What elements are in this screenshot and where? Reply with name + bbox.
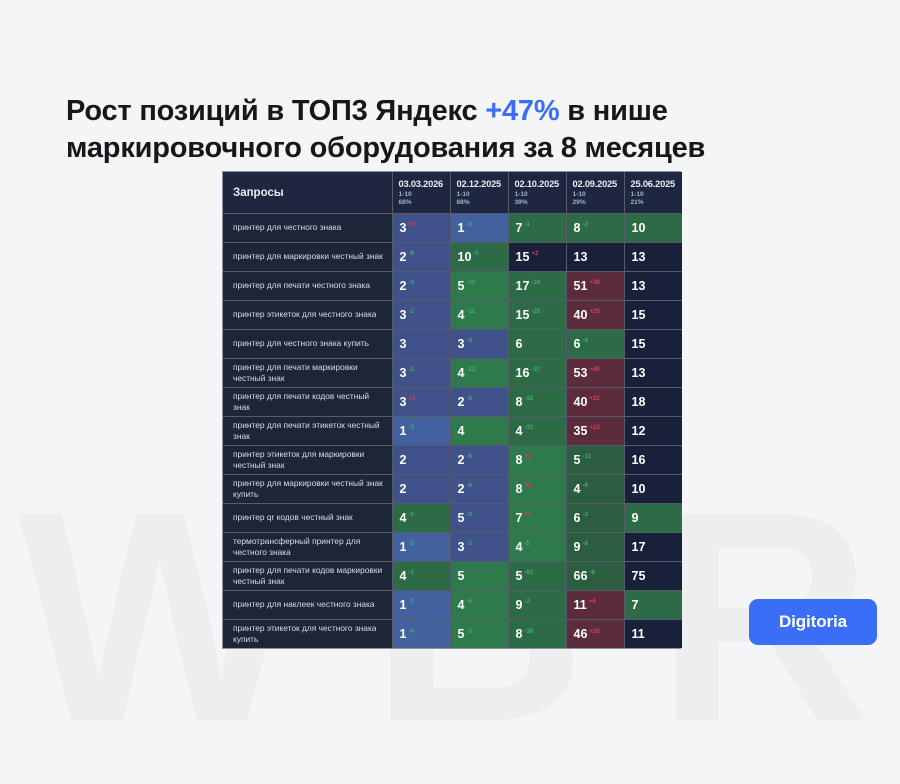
position-delta: -2 [466, 511, 471, 518]
table-row: принтер qr кодов честный знак4-15-27+16-… [223, 503, 682, 532]
position-delta: +4 [524, 482, 531, 489]
position-value: 75 [632, 569, 646, 583]
row-query-label: принтер qr кодов честный знак [223, 503, 392, 532]
column-header-date-5: 25.06.20251-10 21% [624, 172, 682, 213]
position-cell: 53+40 [566, 358, 624, 387]
row-query-label: принтер для печати честного знака [223, 271, 392, 300]
position-delta: -3 [466, 337, 471, 344]
position-cell: 8-2 [566, 213, 624, 242]
position-value: 8 [516, 453, 523, 467]
position-value: 9 [574, 540, 581, 554]
position-cell: 46+35 [566, 619, 624, 648]
rankings-table: Запросы 03.03.20261-10 68%02.12.20251-10… [223, 172, 682, 648]
position-delta: -1 [408, 308, 413, 315]
position-value: 5 [458, 511, 465, 525]
position-value: 40 [574, 395, 588, 409]
position-cell: 1-2 [392, 532, 450, 561]
row-query-label: принтер для честного знака [223, 213, 392, 242]
row-query-label: принтер этикеток для честного знака [223, 300, 392, 329]
position-delta: +40 [589, 366, 599, 373]
position-cell: 5-12 [450, 271, 508, 300]
row-query-label: принтер для печати этикеток честный знак [223, 416, 392, 445]
position-cell: 2 [392, 445, 450, 474]
position-cell: 3-1 [392, 300, 450, 329]
position-cell: 15-25 [508, 300, 566, 329]
position-value: 3 [400, 337, 407, 351]
column-date: 02.10.2025 [515, 179, 560, 189]
title-part-2: в нише [559, 95, 667, 127]
table-row: принтер для наклеек честного знака1-34-5… [223, 590, 682, 619]
position-delta: -1 [408, 511, 413, 518]
position-value: 12 [632, 424, 646, 438]
position-value: 5 [574, 453, 581, 467]
table-row: принтер этикеток для честного знака3-14-… [223, 300, 682, 329]
position-delta: -1 [408, 569, 413, 576]
title-part-1: Рост позиций в ТОП3 Яндекс [66, 95, 485, 127]
row-query-label: принтер для наклеек честного знака [223, 590, 392, 619]
position-cell: 4-6 [566, 474, 624, 503]
row-query-label: принтер для печати кодов маркировки чест… [223, 561, 392, 590]
position-value: 5 [516, 569, 523, 583]
position-delta: -3 [466, 628, 471, 635]
position-value: 66 [574, 569, 588, 583]
position-value: 5 [458, 627, 465, 641]
position-value: 2 [458, 482, 465, 496]
row-query-label: принтер для печати маркировки честный зн… [223, 358, 392, 387]
title-line-2: маркировочного оборудования за 8 месяцев [66, 132, 705, 164]
position-cell: 4-1 [392, 561, 450, 590]
position-delta: -1 [524, 221, 529, 228]
position-delta: +22 [589, 395, 599, 402]
position-value: 1 [400, 540, 407, 554]
rankings-table-container: Запросы 03.03.20261-10 68%02.12.20251-10… [222, 171, 681, 649]
position-value: 2 [458, 395, 465, 409]
position-cell: 4-31 [508, 416, 566, 445]
column-header-date-4: 02.09.20251-10 29% [566, 172, 624, 213]
position-value: 16 [632, 453, 646, 467]
position-delta: -3 [582, 511, 587, 518]
position-delta: +35 [589, 628, 599, 635]
position-delta: +3 [524, 453, 531, 460]
position-cell: 1-3 [392, 590, 450, 619]
position-value: 35 [574, 424, 588, 438]
position-cell: 2-6 [450, 445, 508, 474]
position-value: 4 [516, 424, 523, 438]
table-head: Запросы 03.03.20261-10 68%02.12.20251-10… [223, 172, 682, 213]
position-cell: 8+4 [508, 474, 566, 503]
position-delta: +38 [589, 279, 599, 286]
position-cell: 16 [624, 445, 682, 474]
position-delta: -2 [408, 540, 413, 547]
table-body: принтер для честного знака3+21-67-18-210… [223, 213, 682, 648]
position-delta: +25 [589, 308, 599, 315]
position-delta: -3 [408, 279, 413, 286]
position-delta: -61 [524, 569, 533, 576]
position-delta: -2 [524, 598, 529, 605]
position-value: 10 [632, 221, 646, 235]
position-value: 11 [574, 598, 587, 612]
position-value: 4 [400, 569, 407, 583]
position-value: 3 [458, 337, 465, 351]
position-value: 2 [400, 453, 407, 467]
position-cell: 3+2 [392, 213, 450, 242]
position-cell: 13 [624, 271, 682, 300]
position-cell: 10 [624, 474, 682, 503]
position-cell: 35+23 [566, 416, 624, 445]
position-value: 3 [458, 540, 465, 554]
position-value: 11 [632, 627, 645, 641]
position-cell: 4-12 [450, 358, 508, 387]
column-range-pct: 1-10 39% [515, 191, 560, 207]
position-cell: 4-5 [450, 590, 508, 619]
position-value: 10 [458, 250, 472, 264]
position-cell: 2-8 [392, 242, 450, 271]
row-query-label: принтер для маркировки честный знак [223, 242, 392, 271]
position-delta: -2 [582, 221, 587, 228]
position-value: 3 [400, 366, 407, 380]
position-cell: 5-11 [566, 445, 624, 474]
table-row: принтер для честного знака3+21-67-18-210 [223, 213, 682, 242]
position-value: 5 [458, 279, 465, 293]
position-value: 15 [632, 308, 646, 322]
position-value: 17 [632, 540, 646, 554]
position-cell: 2 [392, 474, 450, 503]
position-cell: 40+25 [566, 300, 624, 329]
position-cell: 10 [624, 213, 682, 242]
position-cell: 6 [508, 329, 566, 358]
position-cell: 3-1 [450, 532, 508, 561]
position-value: 8 [516, 627, 523, 641]
column-date: 02.09.2025 [573, 179, 618, 189]
position-delta: -1 [408, 366, 413, 373]
position-value: 1 [400, 598, 407, 612]
page-title: Рост позиций в ТОП3 Яндекс +47% в нишема… [66, 93, 826, 167]
column-date: 03.03.2026 [399, 179, 444, 189]
position-delta: +1 [408, 395, 415, 402]
position-delta: -12 [466, 279, 475, 286]
position-cell: 11+4 [566, 590, 624, 619]
position-cell: 13 [566, 242, 624, 271]
position-cell: 9-8 [566, 532, 624, 561]
position-value: 8 [574, 221, 581, 235]
position-cell: 4-1 [392, 503, 450, 532]
position-cell: 8-32 [508, 387, 566, 416]
table-row: термотрансферный принтер для честного зн… [223, 532, 682, 561]
position-value: 3 [400, 308, 407, 322]
position-delta: -3 [408, 598, 413, 605]
position-delta: -5 [466, 598, 471, 605]
position-value: 4 [574, 482, 581, 496]
position-delta: -38 [524, 628, 533, 635]
position-cell: 3-1 [392, 358, 450, 387]
position-delta: -6 [466, 482, 471, 489]
position-value: 1 [400, 424, 407, 438]
position-value: 2 [400, 250, 407, 264]
position-delta: -31 [524, 424, 533, 431]
position-value: 15 [516, 250, 530, 264]
position-delta: -5 [473, 250, 478, 257]
position-cell: 5 [450, 561, 508, 590]
position-cell: 8-38 [508, 619, 566, 648]
position-value: 46 [574, 627, 588, 641]
table-row: принтер для печати маркировки честный зн… [223, 358, 682, 387]
row-query-label: принтер для печати кодов честный знак [223, 387, 392, 416]
position-delta: -11 [582, 453, 590, 460]
column-header-date-1: 03.03.20261-10 68% [392, 172, 450, 213]
position-delta: +2 [531, 250, 538, 257]
position-value: 7 [516, 511, 523, 525]
position-delta: +1 [524, 511, 531, 518]
column-range-pct: 1-10 29% [573, 191, 618, 207]
column-date: 25.06.2025 [631, 179, 677, 189]
position-value: 9 [632, 511, 639, 525]
position-cell: 1-3 [392, 416, 450, 445]
table-row: принтер для печати честного знака2-35-12… [223, 271, 682, 300]
table-header-row: Запросы 03.03.20261-10 68%02.12.20251-10… [223, 172, 682, 213]
position-value: 7 [516, 221, 523, 235]
position-cell: 6-9 [566, 329, 624, 358]
position-cell: 9 [624, 503, 682, 532]
position-value: 13 [632, 366, 646, 380]
position-cell: 12 [624, 416, 682, 445]
position-cell: 5-61 [508, 561, 566, 590]
position-cell: 1-6 [450, 213, 508, 242]
position-delta: -6 [466, 453, 471, 460]
position-value: 17 [516, 279, 530, 293]
position-delta: -6 [466, 221, 471, 228]
position-value: 13 [574, 250, 588, 264]
position-delta: -9 [589, 569, 594, 576]
position-cell: 2-6 [450, 474, 508, 503]
position-value: 4 [458, 424, 465, 438]
position-cell: 11 [624, 619, 682, 648]
position-cell: 51+38 [566, 271, 624, 300]
position-value: 10 [632, 482, 646, 496]
position-cell: 1-4 [392, 619, 450, 648]
position-value: 6 [574, 337, 581, 351]
position-cell: 7-1 [508, 213, 566, 242]
position-value: 4 [458, 598, 465, 612]
position-value: 3 [400, 395, 407, 409]
column-header-queries: Запросы [223, 172, 392, 213]
position-cell: 2-3 [392, 271, 450, 300]
position-cell: 5-2 [450, 503, 508, 532]
position-value: 2 [458, 453, 465, 467]
position-value: 53 [574, 366, 588, 380]
position-cell: 75 [624, 561, 682, 590]
position-cell: 13 [624, 242, 682, 271]
position-value: 2 [400, 482, 407, 496]
table-row: принтер для печати этикеток честный знак… [223, 416, 682, 445]
position-cell: 6-3 [566, 503, 624, 532]
column-header-date-3: 02.10.20251-10 39% [508, 172, 566, 213]
column-range-pct: 1-10 68% [457, 191, 502, 207]
position-delta: -4 [408, 628, 413, 635]
position-delta: -9 [582, 337, 587, 344]
position-value: 13 [632, 279, 646, 293]
table-row: принтер этикеток для маркировки честный … [223, 445, 682, 474]
position-cell: 16-37 [508, 358, 566, 387]
position-cell: 4-11 [450, 300, 508, 329]
column-header-date-2: 02.12.20251-10 68% [450, 172, 508, 213]
position-delta: +2 [408, 221, 415, 228]
position-value: 6 [516, 337, 523, 351]
table-row: принтер для маркировки честный знак купи… [223, 474, 682, 503]
table-row: принтер для честного знака купить33-366-… [223, 329, 682, 358]
position-cell: 4 [450, 416, 508, 445]
table-row: принтер для печати кодов маркировки чест… [223, 561, 682, 590]
table-row: принтер для маркировки честный знак2-810… [223, 242, 682, 271]
position-value: 4 [400, 511, 407, 525]
position-value: 8 [516, 395, 523, 409]
position-value: 1 [458, 221, 465, 235]
position-cell: 7 [624, 590, 682, 619]
table-row: принтер для печати кодов честный знак3+1… [223, 387, 682, 416]
table-row: принтер этикеток для честного знака купи… [223, 619, 682, 648]
position-cell: 2-6 [450, 387, 508, 416]
position-value: 15 [516, 308, 530, 322]
position-cell: 17-34 [508, 271, 566, 300]
position-cell: 66-9 [566, 561, 624, 590]
position-delta: -6 [582, 482, 587, 489]
position-value: 4 [458, 308, 465, 322]
position-delta: -32 [524, 395, 533, 402]
position-delta: -12 [466, 366, 475, 373]
column-range-pct: 1-10 68% [399, 191, 444, 207]
position-cell: 3+1 [392, 387, 450, 416]
logo-badge[interactable]: Digitoria [749, 599, 877, 645]
position-cell: 5-3 [450, 619, 508, 648]
position-cell: 3 [392, 329, 450, 358]
row-query-label: принтер для маркировки честный знак купи… [223, 474, 392, 503]
position-cell: 8+3 [508, 445, 566, 474]
position-value: 2 [400, 279, 407, 293]
position-delta: -8 [582, 540, 587, 547]
position-delta: +23 [589, 424, 599, 431]
position-value: 4 [458, 366, 465, 380]
position-value: 6 [574, 511, 581, 525]
position-delta: -34 [531, 279, 540, 286]
position-value: 15 [632, 337, 646, 351]
row-query-label: принтер этикеток для честного знака купи… [223, 619, 392, 648]
position-delta: -1 [466, 540, 471, 547]
position-cell: 40+22 [566, 387, 624, 416]
position-delta: -3 [408, 424, 413, 431]
position-value: 3 [400, 221, 407, 235]
position-delta: -6 [466, 395, 471, 402]
position-value: 51 [574, 279, 588, 293]
row-query-label: принтер этикеток для маркировки честный … [223, 445, 392, 474]
position-value: 1 [400, 627, 407, 641]
position-cell: 13 [624, 358, 682, 387]
position-value: 4 [516, 540, 523, 554]
position-cell: 17 [624, 532, 682, 561]
title-accent-value: +47% [485, 95, 559, 127]
position-value: 13 [632, 250, 646, 264]
position-value: 7 [632, 598, 639, 612]
position-cell: 7+1 [508, 503, 566, 532]
position-cell: 10-5 [450, 242, 508, 271]
position-cell: 15+2 [508, 242, 566, 271]
position-value: 40 [574, 308, 588, 322]
position-delta: -8 [408, 250, 413, 257]
position-cell: 15 [624, 329, 682, 358]
column-date: 02.12.2025 [457, 179, 502, 189]
position-cell: 15 [624, 300, 682, 329]
position-delta: -25 [531, 308, 540, 315]
position-value: 16 [516, 366, 530, 380]
position-value: 18 [632, 395, 646, 409]
position-value: 8 [516, 482, 523, 496]
column-range-pct: 1-10 21% [631, 191, 677, 207]
position-cell: 9-2 [508, 590, 566, 619]
position-value: 5 [458, 569, 465, 583]
position-cell: 18 [624, 387, 682, 416]
row-query-label: принтер для честного знака купить [223, 329, 392, 358]
position-delta: -11 [466, 308, 474, 315]
position-cell: 4-5 [508, 532, 566, 561]
row-query-label: термотрансферный принтер для честного зн… [223, 532, 392, 561]
position-delta: -37 [531, 366, 540, 373]
position-delta: -5 [524, 540, 529, 547]
position-delta: +4 [589, 598, 596, 605]
position-value: 9 [516, 598, 523, 612]
position-cell: 3-3 [450, 329, 508, 358]
